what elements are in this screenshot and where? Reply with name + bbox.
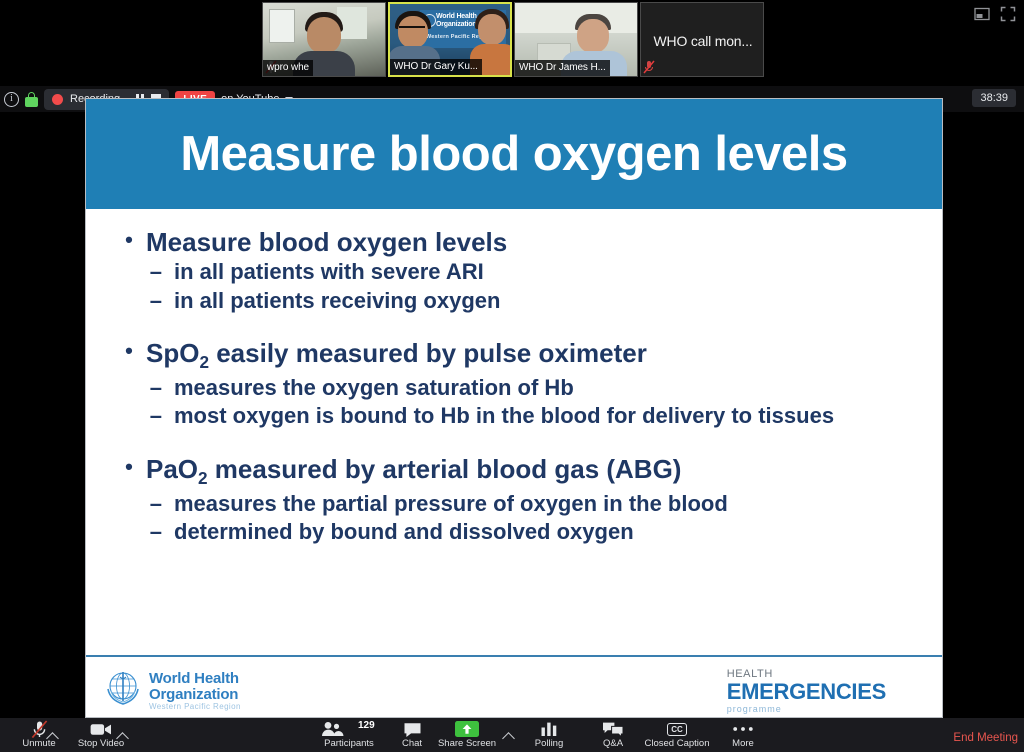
who-region-label: Western Pacific Region <box>149 702 241 711</box>
sub-bullet: – in all patients receiving oxygen <box>112 288 918 314</box>
sub-bullet: – most oxygen is bound to Hb in the bloo… <box>112 403 918 429</box>
dash-icon: – <box>112 288 174 314</box>
sub-bullet-text: in all patients with severe ARI <box>174 259 918 285</box>
toolbar-label: Chat <box>402 738 422 749</box>
slide-title-banner: Measure blood oxygen levels <box>86 99 942 209</box>
video-tile-participant-1[interactable]: wpro whe <box>262 2 386 77</box>
participant-2-face <box>478 14 506 45</box>
slide-content: • Measure blood oxygen levels – in all p… <box>86 209 942 546</box>
sub-bullet: – determined by bound and dissolved oxyg… <box>112 519 918 545</box>
audio-options-chevron-icon[interactable] <box>47 730 59 742</box>
toolbar-label: Q&A <box>603 738 623 749</box>
bullet-dot-icon: • <box>112 338 146 373</box>
he-line-3: programme <box>727 704 886 714</box>
toolbar-label: Closed Caption <box>645 738 710 749</box>
sub-bullet-text: in all patients receiving oxygen <box>174 288 918 314</box>
bullet-heading: • PaO2 measured by arterial blood gas (A… <box>112 454 918 489</box>
shared-screen-slide: Measure blood oxygen levels • Measure bl… <box>85 98 943 718</box>
closed-caption-icon: CC <box>667 720 687 738</box>
meeting-info-icon[interactable]: i <box>4 92 19 107</box>
bullet-group-2: • SpO2 easily measured by pulse oximeter… <box>112 338 918 430</box>
microphone-muted-icon <box>31 720 48 738</box>
meeting-timer: 38:39 <box>972 89 1016 107</box>
bullet-heading-text: PaO2 measured by arterial blood gas (ABG… <box>146 454 681 489</box>
view-layout-icon[interactable] <box>974 6 990 22</box>
participant-name-label: wpro whe <box>263 60 313 76</box>
who-line-1: World Health <box>149 671 239 687</box>
backdrop-org-text: World HealthOrganization <box>436 13 477 29</box>
video-thumbnail-strip: wpro whe World HealthOrganization Wester… <box>0 0 1024 80</box>
toolbar-label: More <box>732 738 754 749</box>
bullet-heading: • Measure blood oxygen levels <box>112 227 918 257</box>
sub-bullet: – in all patients with severe ARI <box>112 259 918 285</box>
qa-bubbles-icon <box>602 720 624 738</box>
bullet-heading-text: SpO2 easily measured by pulse oximeter <box>146 338 647 373</box>
dash-icon: – <box>112 375 174 401</box>
who-line-2: Organization <box>149 687 239 703</box>
who-logo: World Health Organization <box>103 667 239 707</box>
toolbar-label: Share Screen <box>438 738 496 749</box>
more-ellipsis-icon <box>732 720 754 738</box>
sub-bullet-text: measures the partial pressure of oxygen … <box>174 491 918 517</box>
participant-name-label: WHO Dr James H... <box>515 60 610 76</box>
participant-face <box>307 17 341 53</box>
bullet-group-1: • Measure blood oxygen levels – in all p… <box>112 227 918 314</box>
dash-icon: – <box>112 519 174 545</box>
toolbar-button-more[interactable]: More <box>704 718 782 752</box>
he-line-2: EMERGENCIES <box>727 680 886 703</box>
toolbar-label: Polling <box>535 738 564 749</box>
video-tile-participant-2[interactable]: World HealthOrganization Western Pacific… <box>388 2 512 77</box>
window-controls <box>974 6 1016 22</box>
video-camera-icon <box>90 720 112 738</box>
end-meeting-button[interactable]: End Meeting <box>953 732 1018 744</box>
dash-icon: – <box>112 259 174 285</box>
share-screen-icon <box>452 720 482 738</box>
video-tile-participant-4[interactable]: WHO call mon... <box>640 2 764 77</box>
sub-bullet: – measures the oxygen saturation of Hb <box>112 375 918 401</box>
thumbnail-list: wpro whe World HealthOrganization Wester… <box>262 2 766 77</box>
participant-name-label: WHO Dr Gary Ku... <box>390 59 482 75</box>
encryption-lock-icon[interactable] <box>25 92 38 107</box>
subscript: 2 <box>198 468 208 488</box>
polling-bars-icon <box>540 720 558 738</box>
participant-name-placeholder: WHO call mon... <box>641 3 764 77</box>
chat-bubble-icon <box>403 720 422 738</box>
bullet-heading-text: Measure blood oxygen levels <box>146 227 507 257</box>
participant-face <box>577 19 609 53</box>
video-tile-participant-3[interactable]: WHO Dr James H... <box>514 2 638 77</box>
microphone-muted-icon <box>643 60 655 74</box>
sub-bullet: – measures the partial pressure of oxyge… <box>112 491 918 517</box>
who-wordmark: World Health Organization <box>149 671 239 703</box>
bullet-dot-icon: • <box>112 227 146 257</box>
participant-glasses <box>399 26 425 33</box>
who-emblem-icon <box>103 667 143 707</box>
slide-title: Measure blood oxygen levels <box>180 126 847 182</box>
subscript: 2 <box>199 352 209 372</box>
zoom-meeting-toolbar: Unmute Stop Video 129 Participants <box>0 718 1024 752</box>
bullet-group-3: • PaO2 measured by arterial blood gas (A… <box>112 454 918 546</box>
video-options-chevron-icon[interactable] <box>117 730 129 742</box>
bullet-heading: • SpO2 easily measured by pulse oximeter <box>112 338 918 373</box>
sub-bullet-text: most oxygen is bound to Hb in the blood … <box>174 403 918 429</box>
fullscreen-icon[interactable] <box>1000 6 1016 22</box>
toolbar-label: Participants <box>324 738 374 749</box>
dash-icon: – <box>112 403 174 429</box>
sub-bullet-text: measures the oxygen saturation of Hb <box>174 375 918 401</box>
bullet-dot-icon: • <box>112 454 146 489</box>
slide-footer: World Health Organization Western Pacifi… <box>86 655 942 717</box>
background-window <box>269 9 295 43</box>
toolbar-button-share-screen[interactable]: Share Screen <box>428 718 506 752</box>
health-emergencies-logo: HEALTH EMERGENCIES programme <box>727 668 886 714</box>
sub-bullet-text: determined by bound and dissolved oxygen <box>174 519 918 545</box>
dash-icon: – <box>112 491 174 517</box>
recording-indicator-icon <box>52 94 63 105</box>
